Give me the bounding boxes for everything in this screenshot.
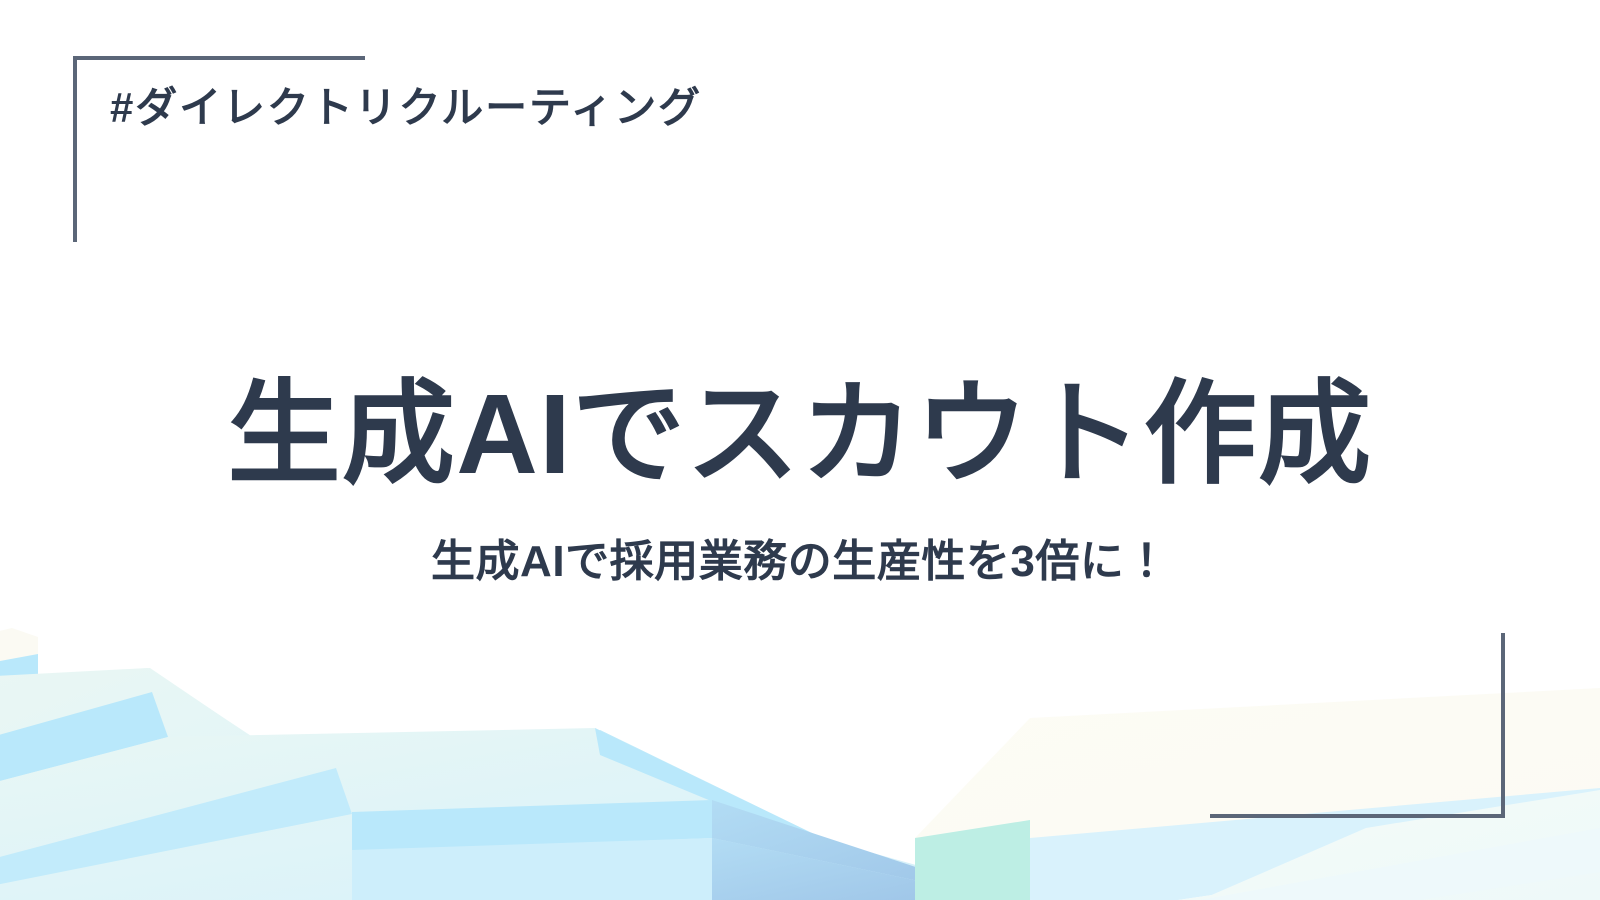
corner-bracket-bottom-right [1210,633,1505,818]
isometric-steps-left [0,628,1060,900]
category-tag: #ダイレクトリクルーティング [110,84,702,132]
slide-canvas: #ダイレクトリクルーティング 生成AIでスカウト作成 生成AIで採用業務の生産性… [0,0,1600,900]
page-subtitle: 生成AIで採用業務の生産性を3倍に！ [0,533,1600,590]
page-title: 生成AIでスカウト作成 [0,368,1600,501]
